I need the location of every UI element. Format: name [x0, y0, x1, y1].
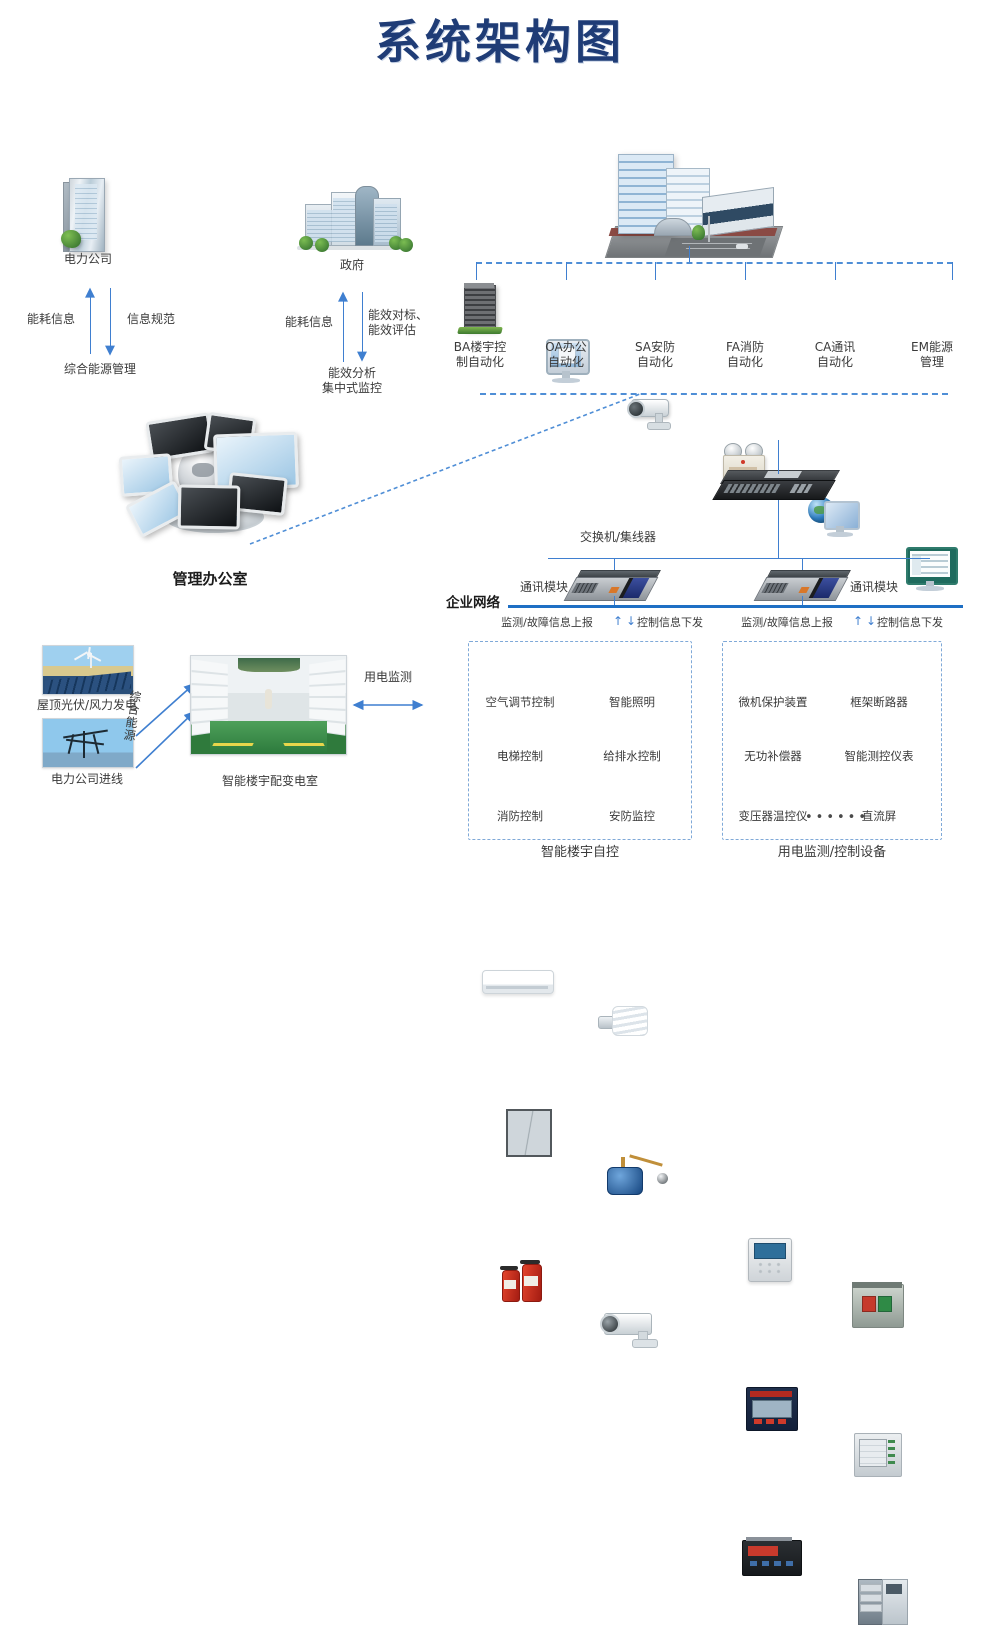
- utility-arrow-up-head: ▲: [85, 286, 95, 299]
- surveillance-camera-icon: [598, 1305, 672, 1351]
- pm-flow-down-arrow: ↓: [866, 615, 876, 627]
- comm-module-right-label: 通讯模块: [850, 580, 930, 595]
- smart-power-meter-icon: [842, 1431, 916, 1477]
- substation-room-photo: [190, 655, 347, 755]
- utility-arrow-up-label: 能耗信息: [18, 312, 84, 327]
- subsystem-label-ba: BA楼宇控 制自动化: [440, 340, 520, 370]
- communication-module-icon: [760, 570, 850, 604]
- utility-arrow-down-line: [110, 288, 111, 350]
- power-company-building-icon: [63, 178, 111, 250]
- globe-multi-monitor-icon: [120, 415, 300, 540]
- grid-label: 电力公司进线: [22, 772, 152, 787]
- government-arrow-up-label: 能耗信息: [276, 315, 342, 330]
- utility-bottom-label: 综合能源管理: [30, 362, 170, 377]
- management-office-label: 管理办公室: [110, 572, 310, 587]
- pm-device-label-3: 智能测控仪表: [819, 748, 939, 764]
- subsystem-label-fa: FA消防 自动化: [705, 340, 785, 370]
- utility-arrow-down-head: ▼: [105, 344, 115, 357]
- ba-device-label-3: 给排水控制: [572, 748, 692, 764]
- subsystem-drop-6: [952, 262, 953, 280]
- power-monitoring-group-caption: 用电监测/控制设备: [762, 845, 902, 860]
- power-monitoring-arrow: [348, 690, 428, 720]
- government-arrow-up-head: ▲: [338, 290, 348, 303]
- pm-device-label-1: 框架断路器: [819, 694, 939, 710]
- pm-flow-up-label: 监测/故障信息上报: [722, 616, 852, 630]
- office-building-3d-icon: [608, 148, 778, 258]
- subsystem-drop-3: [655, 262, 656, 280]
- pm-device-label-0: 微机保护装置: [713, 694, 833, 710]
- cfl-bulb-icon: [592, 1004, 666, 1050]
- solar-wind-photo: [42, 645, 134, 695]
- subsystem-bus-dashed-line: [476, 262, 953, 264]
- switch-uplink-line: [778, 440, 779, 474]
- reactive-power-compensator-icon: [736, 1385, 810, 1431]
- subsystem-drop-4: [745, 262, 746, 280]
- architecture-diagram: 系统架构图 电力公司 ▲ ▼ 能耗信息 信息规范 综合能源管理 政府 ▲ ▼ 能…: [0, 0, 1000, 889]
- enterprise-network-label: 企业网络: [420, 596, 500, 611]
- comm-module-left-label: 通讯模块: [498, 580, 568, 595]
- air-conditioner-icon: [480, 960, 554, 1006]
- dc-power-panel-icon: [848, 1578, 922, 1624]
- government-node-label: 政府: [288, 258, 416, 273]
- building-bus-drop-line: [689, 246, 690, 263]
- subsystem-drop-2: [566, 262, 567, 280]
- subsystem-label-ca: CA通讯 自动化: [795, 340, 875, 370]
- subsystem-label-sa: SA安防 自动化: [615, 340, 695, 370]
- government-building-icon: [297, 186, 407, 252]
- government-arrow-down-label: 能效对标、 能效评估: [368, 308, 444, 338]
- substation-label: 智能楼宇配变电室: [200, 774, 340, 789]
- government-arrow-up-line: [343, 296, 344, 362]
- more-devices-indicator: ••••••: [805, 810, 869, 825]
- ba-device-label-0: 空气调节控制: [460, 694, 580, 710]
- switch-downlink-line: [778, 500, 779, 558]
- comm-distribution-line: [548, 558, 930, 559]
- pm-flow-up-arrow: ↑: [853, 615, 863, 627]
- transformer-temperature-controller-icon: [736, 1534, 810, 1580]
- government-arrow-down-line: [362, 292, 363, 356]
- ba-flow-up-label: 监测/故障信息上报: [482, 616, 612, 630]
- switch-label: 交换机/集线器: [528, 530, 708, 545]
- high-rise-building-icon: [452, 283, 508, 335]
- subsystem-drop-1: [476, 262, 477, 280]
- ba-device-label-5: 安防监控: [572, 808, 692, 824]
- page-title: 系统架构图: [0, 6, 1000, 72]
- utility-arrow-up-line: [90, 292, 91, 354]
- ba-device-label-4: 消防控制: [460, 808, 580, 824]
- subsystem-label-oa: OA办公 自动化: [526, 340, 606, 370]
- utility-node-label: 电力公司: [30, 252, 146, 267]
- pm-device-label-2: 无功补偿器: [713, 748, 833, 764]
- ba-device-label-2: 电梯控制: [460, 748, 580, 764]
- fire-extinguisher-icon: [490, 1258, 564, 1304]
- communication-module-icon: [570, 570, 660, 604]
- ba-flow-up-arrow: ↑: [613, 615, 623, 627]
- subsystem-label-em: EM能源 管理: [892, 340, 972, 370]
- pm-flow-down-label: 控制信息下发: [877, 616, 977, 630]
- utility-arrow-down-label: 信息规范: [118, 312, 184, 327]
- protection-relay-icon: [736, 1236, 810, 1282]
- ba-device-label-1: 智能照明: [572, 694, 692, 710]
- air-circuit-breaker-icon: [842, 1282, 916, 1328]
- elevator-icon: [490, 1109, 564, 1155]
- building-automation-group-caption: 智能楼宇自控: [510, 845, 650, 860]
- enterprise-network-bus: [508, 605, 963, 608]
- power-monitoring-arrow-label: 用电监测: [348, 670, 428, 685]
- government-arrow-down-head: ▼: [357, 350, 367, 363]
- subsystem-drop-5: [835, 262, 836, 280]
- ba-flow-down-arrow: ↓: [626, 615, 636, 627]
- water-valve-icon: [595, 1153, 669, 1199]
